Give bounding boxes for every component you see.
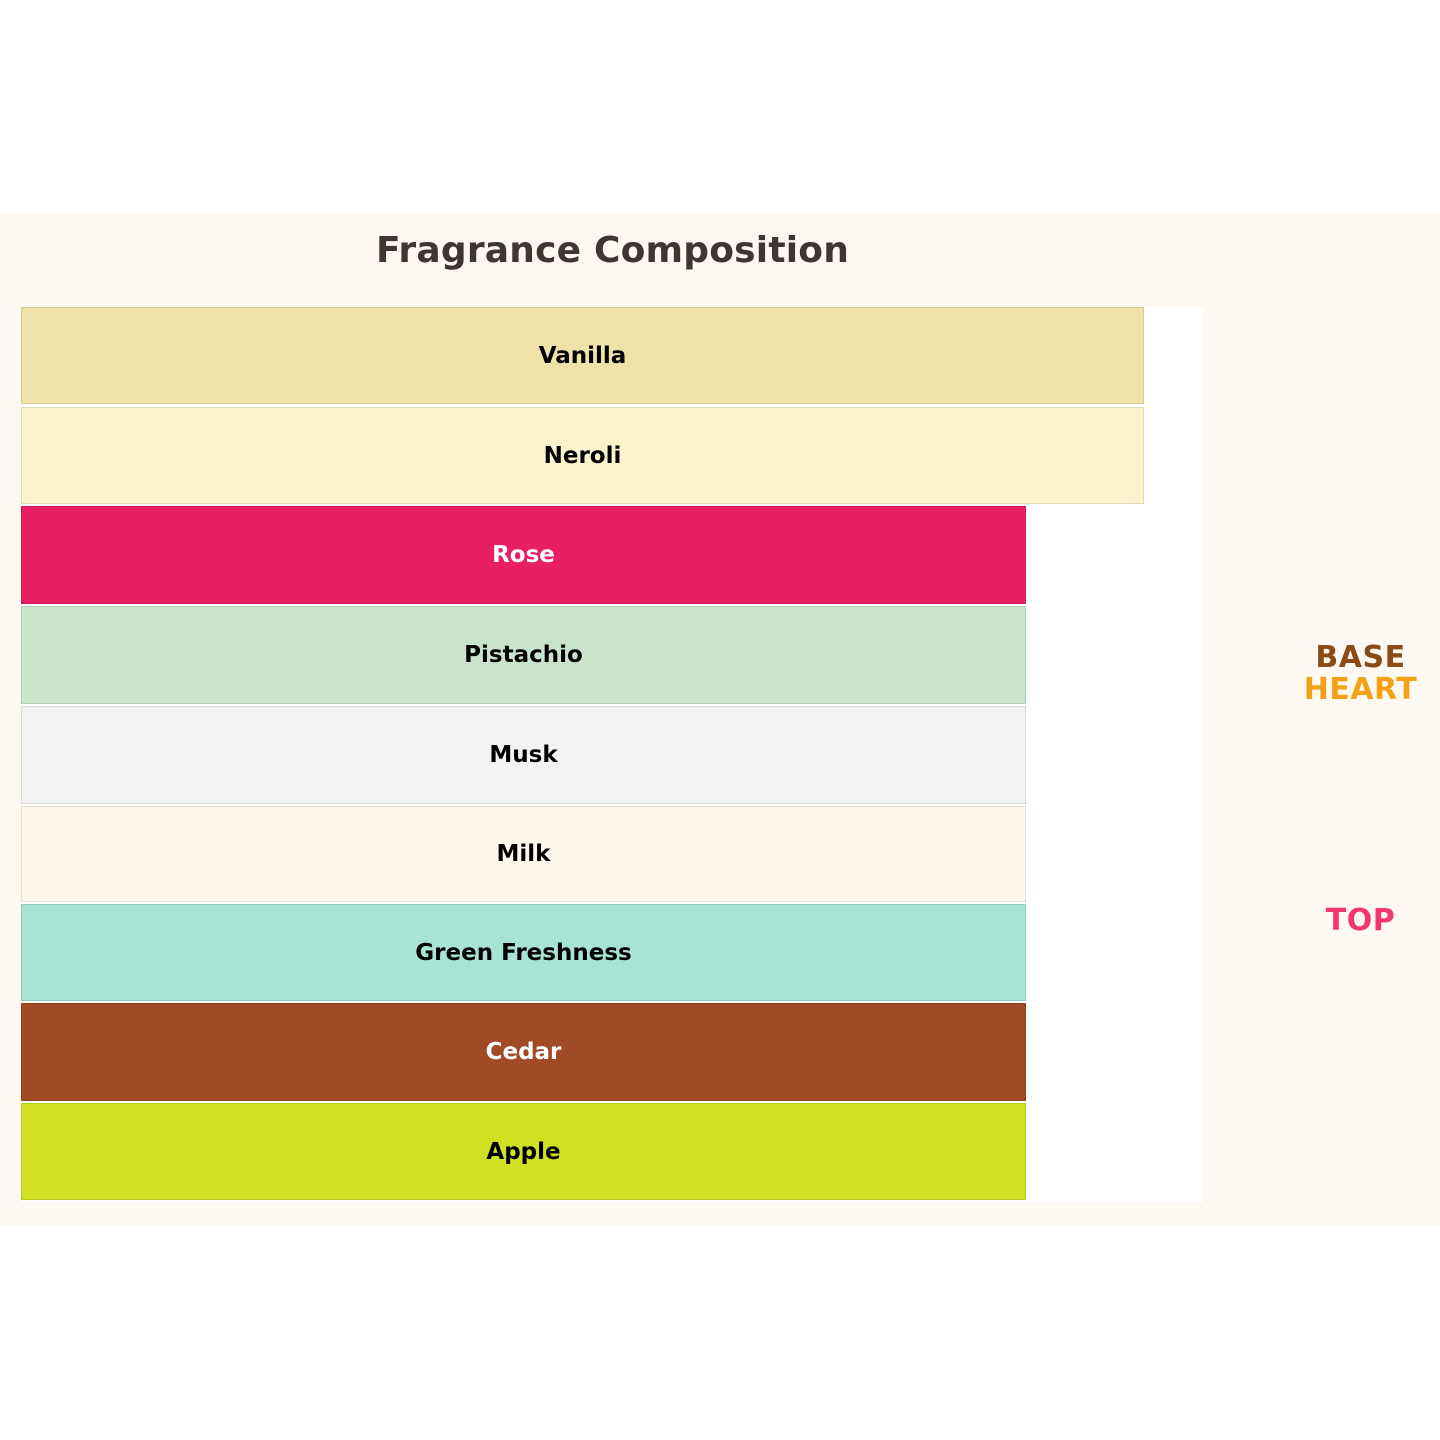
group-label-heart: HEART <box>1298 672 1423 707</box>
bar-row: Apple <box>21 1103 1203 1200</box>
bar-milk[interactable] <box>21 806 1026 902</box>
bar-row: Vanilla <box>21 307 1203 404</box>
bar-row: Cedar <box>21 1003 1203 1101</box>
bar-neroli[interactable] <box>21 407 1144 504</box>
bar-musk[interactable] <box>21 706 1026 804</box>
group-label-base: BASE <box>1298 640 1423 675</box>
bar-row: Green Freshness <box>21 904 1203 1001</box>
page-title: Fragrance Composition <box>0 230 1225 271</box>
group-label-top: TOP <box>1298 903 1423 938</box>
bar-cedar[interactable] <box>21 1003 1026 1101</box>
bar-row: Rose <box>21 506 1203 604</box>
bar-row: Musk <box>21 706 1203 804</box>
bar-apple[interactable] <box>21 1103 1026 1200</box>
bar-row: Milk <box>21 806 1203 902</box>
chart-figure: Fragrance Composition VanillaNeroliRoseP… <box>0 213 1440 1226</box>
bar-vanilla[interactable] <box>21 307 1144 404</box>
bar-rose[interactable] <box>21 506 1026 604</box>
bar-row: Pistachio <box>21 606 1203 704</box>
bar-green-freshness[interactable] <box>21 904 1026 1001</box>
bar-row: Neroli <box>21 407 1203 504</box>
bar-pistachio[interactable] <box>21 606 1026 704</box>
